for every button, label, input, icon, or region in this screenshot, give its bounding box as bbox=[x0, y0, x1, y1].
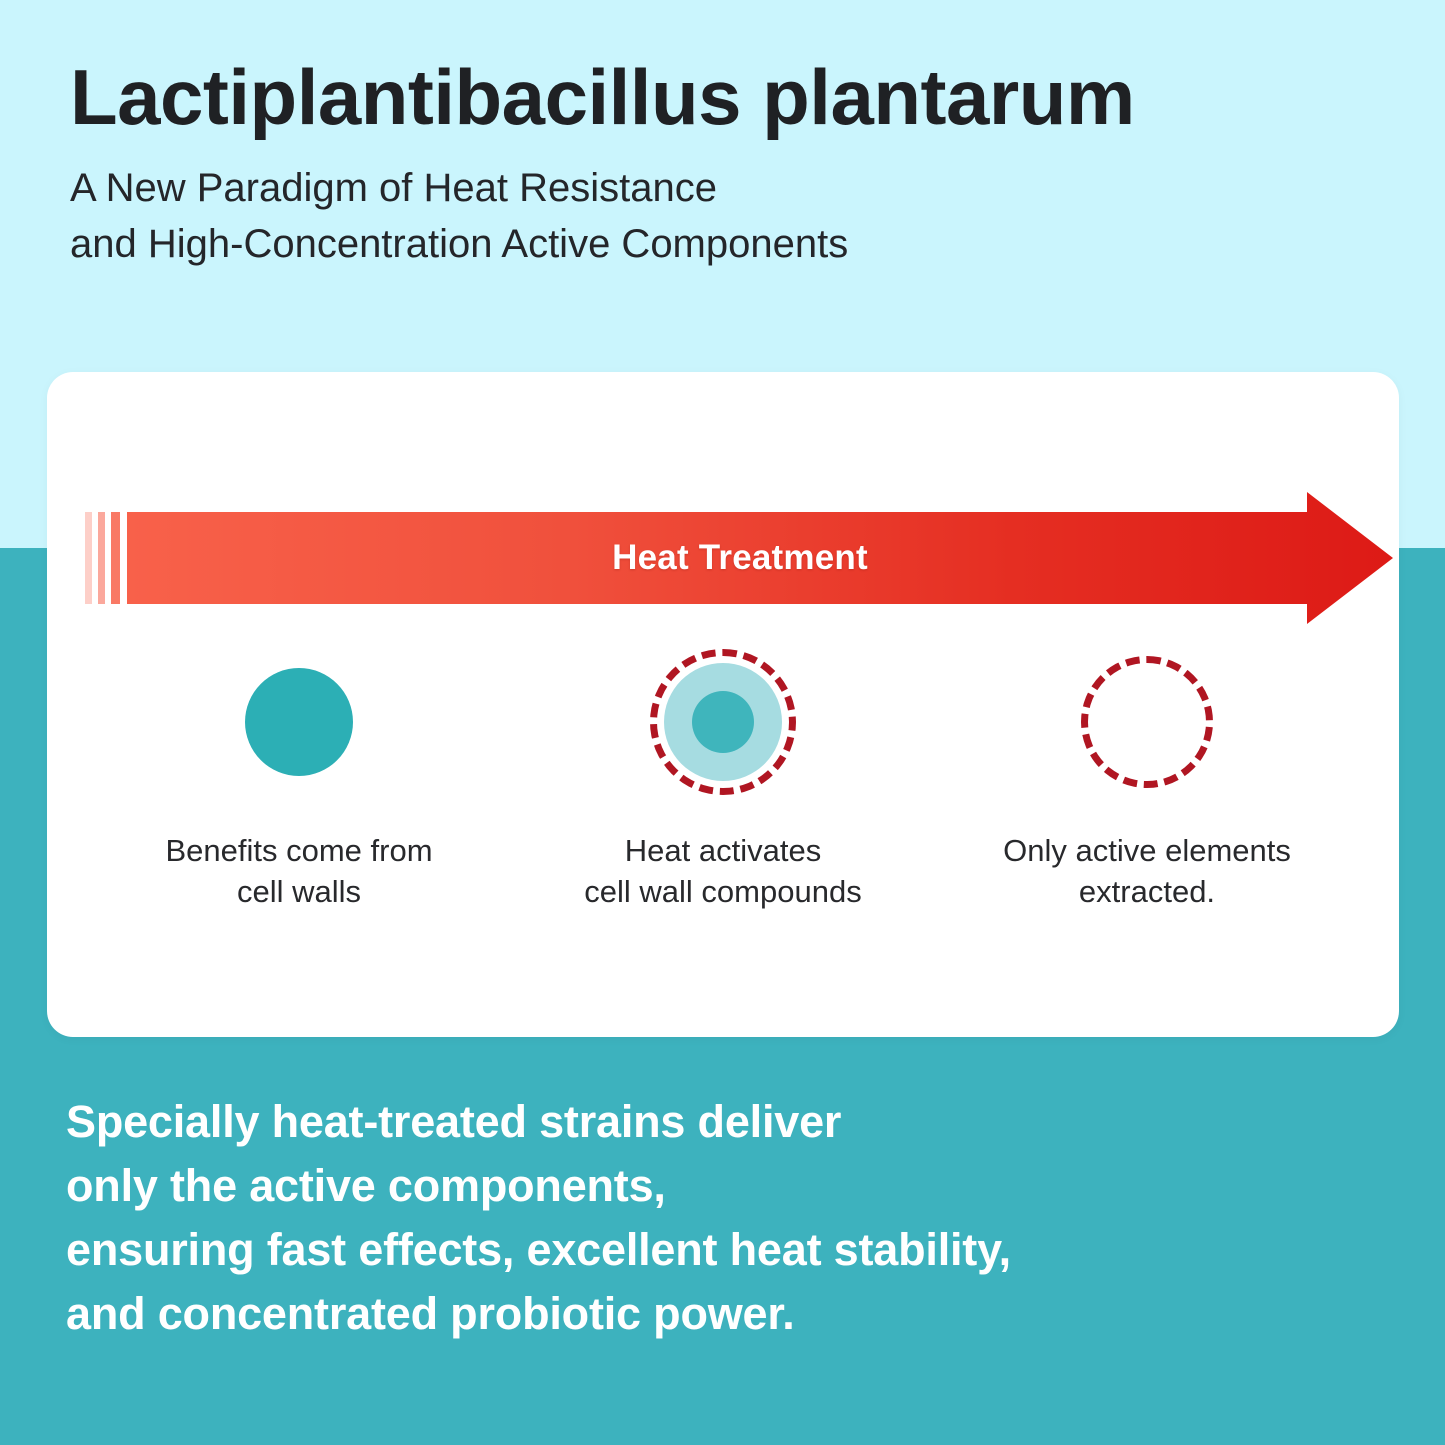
page-title: Lactiplantibacillus plantarum bbox=[70, 58, 1400, 138]
caption-line-2: extracted. bbox=[1003, 872, 1291, 913]
stage-intact-cell: Benefits come from cell walls bbox=[87, 647, 511, 913]
caption-line-2: cell wall compounds bbox=[584, 872, 861, 913]
caption-line-1: Heat activates bbox=[584, 831, 861, 872]
stage-extracted-elements: Only active elements extracted. bbox=[935, 647, 1359, 913]
stage-heat-activated-cell: Heat activates cell wall compounds bbox=[511, 647, 935, 913]
stage-row: Benefits come from cell walls Heat activ… bbox=[87, 647, 1359, 913]
caption-line-2: cell walls bbox=[165, 872, 432, 913]
caption-line-1: Only active elements bbox=[1003, 831, 1291, 872]
diagram-card: Heat Treatment Benefits come from cell w… bbox=[47, 372, 1399, 1037]
statement-line-1: Specially heat-treated strains deliver bbox=[66, 1090, 1396, 1154]
page-subtitle: A New Paradigm of Heat Resistance and Hi… bbox=[70, 160, 1400, 274]
statement-line-2: only the active components, bbox=[66, 1154, 1396, 1218]
arrow-tick-2 bbox=[98, 512, 105, 604]
arrow-tick-1 bbox=[85, 512, 92, 604]
arrow-tick-3 bbox=[111, 512, 120, 604]
subtitle-line-2: and High-Concentration Active Components bbox=[70, 216, 1400, 273]
infographic-poster: Lactiplantibacillus plantarum A New Para… bbox=[0, 0, 1445, 1445]
statement-line-4: and concentrated probiotic power. bbox=[66, 1282, 1396, 1346]
subtitle-line-1: A New Paradigm of Heat Resistance bbox=[70, 160, 1400, 217]
dashed-ring-empty-icon bbox=[1072, 647, 1222, 797]
heat-treatment-arrow: Heat Treatment bbox=[85, 490, 1395, 626]
summary-statement: Specially heat-treated strains deliver o… bbox=[66, 1090, 1396, 1346]
caption-line-1: Benefits come from bbox=[165, 831, 432, 872]
arrow-shape-icon bbox=[85, 490, 1395, 626]
stage-caption: Heat activates cell wall compounds bbox=[584, 831, 861, 913]
dashed-ring bbox=[650, 649, 796, 795]
solid-teal-disc-icon bbox=[224, 647, 374, 797]
statement-line-3: ensuring fast effects, excellent heat st… bbox=[66, 1218, 1396, 1282]
dashed-ring-double-disc-icon bbox=[648, 647, 798, 797]
stage-caption: Benefits come from cell walls bbox=[165, 831, 432, 913]
disc-solid bbox=[245, 668, 353, 776]
stage-caption: Only active elements extracted. bbox=[1003, 831, 1291, 913]
header: Lactiplantibacillus plantarum A New Para… bbox=[70, 58, 1400, 273]
dashed-ring bbox=[1081, 656, 1213, 788]
